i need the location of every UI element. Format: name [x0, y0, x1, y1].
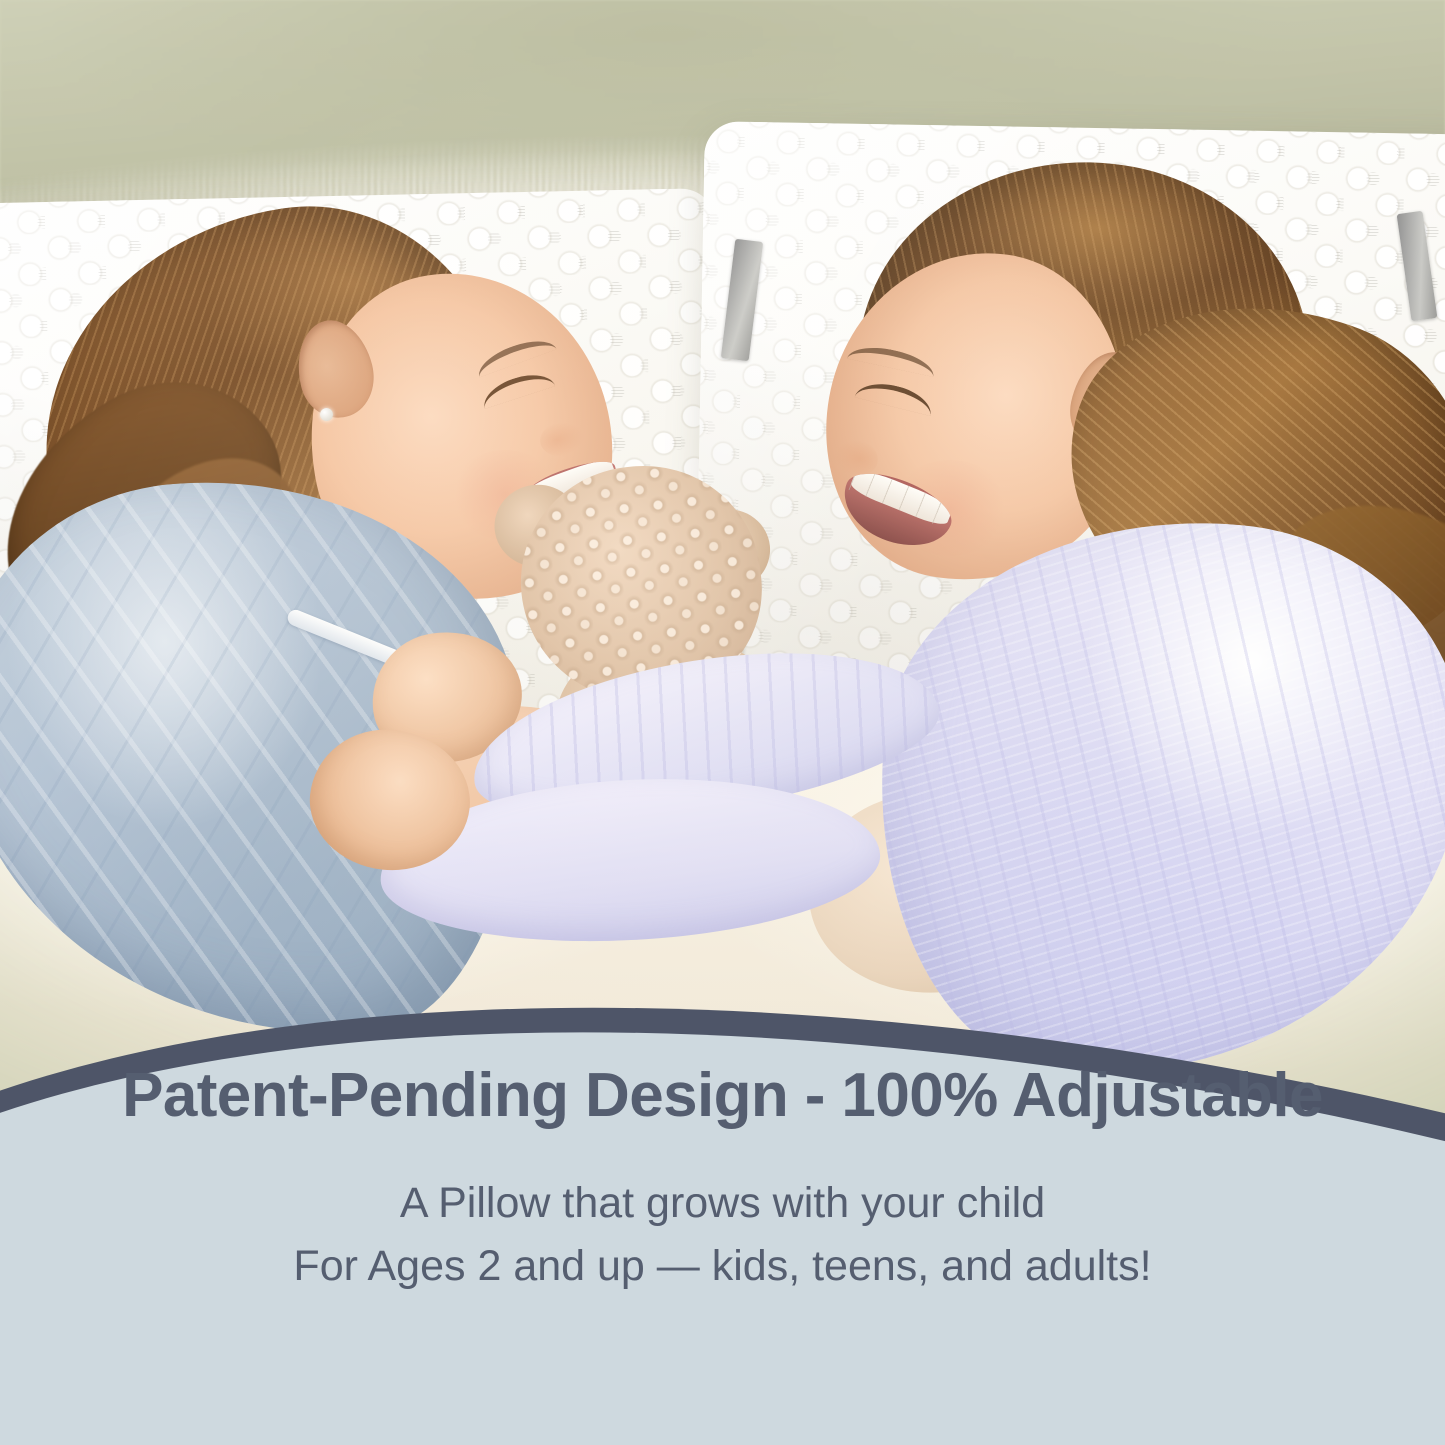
- child-right: [800, 140, 1445, 1040]
- banner-text-block: Patent-Pending Design - 100% Adjustable …: [0, 975, 1445, 1445]
- earring-left: [320, 408, 333, 421]
- banner-subline-2: For Ages 2 and up — kids, teens, and adu…: [293, 1237, 1151, 1296]
- bottom-banner: Patent-Pending Design - 100% Adjustable …: [0, 975, 1445, 1445]
- banner-subline-1: A Pillow that grows with your child: [400, 1174, 1045, 1233]
- banner-headline: Patent-Pending Design - 100% Adjustable: [122, 1063, 1323, 1128]
- product-marketing-image: Patent-Pending Design - 100% Adjustable …: [0, 0, 1445, 1445]
